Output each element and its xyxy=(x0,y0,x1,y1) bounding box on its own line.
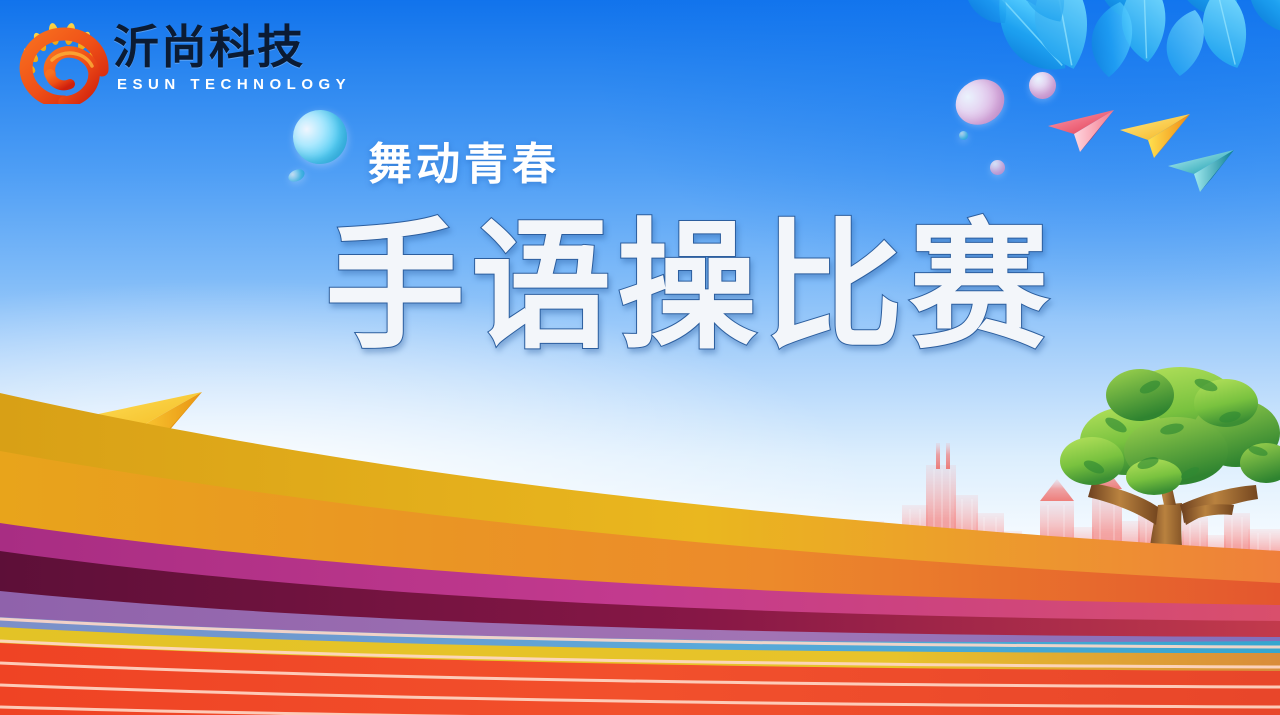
poster-subtitle: 舞动青春 xyxy=(368,128,560,192)
track-lane-lines xyxy=(0,595,1280,715)
logo-english-name: ESUN TECHNOLOGY xyxy=(117,76,351,93)
paper-plane-teal xyxy=(1166,148,1236,196)
brand-logo[interactable]: 沂尚科技 ESUN TECHNOLOGY xyxy=(18,16,318,108)
bubble-cyan-tiny xyxy=(959,131,968,140)
bubble-pink-tiny xyxy=(990,160,1005,175)
bubble-cyan-large xyxy=(285,102,354,171)
scenery-waves xyxy=(0,355,1280,715)
poster-main-title: 手语操比赛 xyxy=(325,218,1055,358)
paper-plane-pink xyxy=(1046,108,1116,156)
bubble-pink-medium xyxy=(1029,72,1056,99)
bubble-cyan-small xyxy=(286,167,306,184)
sun-swirl-icon xyxy=(18,22,110,104)
poster-canvas: 沂尚科技 ESUN TECHNOLOGY xyxy=(0,0,1280,715)
logo-chinese-name: 沂尚科技 xyxy=(113,24,305,70)
